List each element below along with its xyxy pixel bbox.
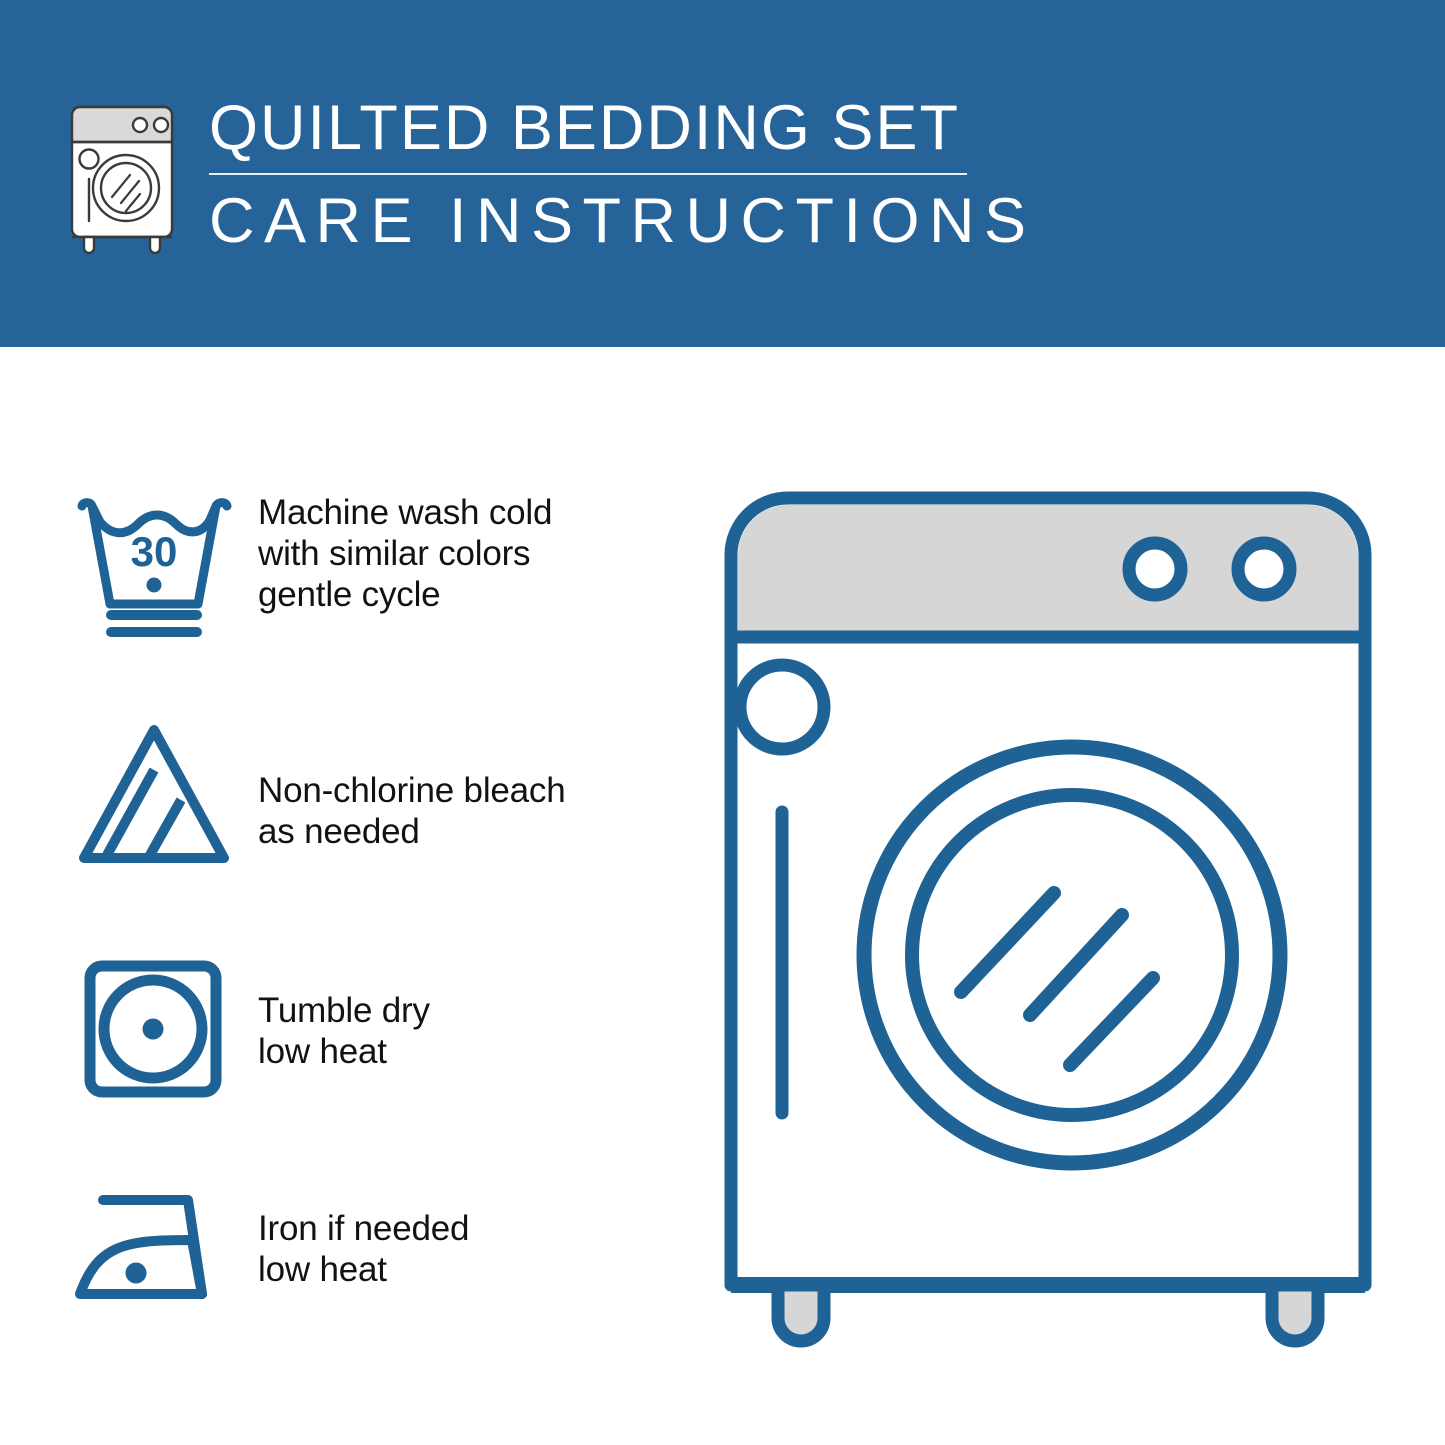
bleach-triangle-icon bbox=[70, 718, 238, 878]
care-label-machine-wash: Machine wash cold with similar colors ge… bbox=[258, 488, 552, 615]
care-label-iron: Iron if needed low heat bbox=[258, 1178, 469, 1290]
front-load-washing-machine-illustration bbox=[718, 485, 1378, 1355]
header-content: QUILTED BEDDING SET CARE INSTRUCTIONS bbox=[68, 95, 1036, 255]
care-instruction-list: 30 Machine wash cold with similar colors… bbox=[70, 488, 690, 1408]
care-label-non-chlorine-bleach: Non-chlorine bleach as needed bbox=[258, 718, 566, 852]
header-titles: QUILTED BEDDING SET CARE INSTRUCTIONS bbox=[209, 95, 1036, 255]
leg-left bbox=[778, 1285, 824, 1341]
wash-tub-30-icon: 30 bbox=[70, 488, 238, 648]
page-title: QUILTED BEDDING SET bbox=[209, 95, 1036, 161]
care-row-iron: Iron if needed low heat bbox=[70, 1178, 690, 1408]
care-row-tumble-dry: Tumble dry low heat bbox=[70, 948, 690, 1178]
detergent-dial[interactable] bbox=[740, 665, 824, 749]
header-band: QUILTED BEDDING SET CARE INSTRUCTIONS bbox=[0, 0, 1445, 347]
iron-low-icon bbox=[70, 1178, 238, 1338]
page-subtitle: CARE INSTRUCTIONS bbox=[209, 187, 1036, 255]
control-knob-right[interactable] bbox=[1238, 543, 1290, 595]
care-label-tumble-dry: Tumble dry low heat bbox=[258, 948, 430, 1072]
leg-right bbox=[1272, 1285, 1318, 1341]
control-knob-left[interactable] bbox=[1129, 543, 1181, 595]
wash-temperature-label: 30 bbox=[131, 528, 178, 575]
tumble-dry-low-icon bbox=[70, 948, 238, 1108]
care-row-machine-wash: 30 Machine wash cold with similar colors… bbox=[70, 488, 690, 718]
header-divider bbox=[209, 173, 967, 175]
washing-machine-icon bbox=[68, 103, 176, 255]
care-row-non-chlorine-bleach: Non-chlorine bleach as needed bbox=[70, 718, 690, 948]
